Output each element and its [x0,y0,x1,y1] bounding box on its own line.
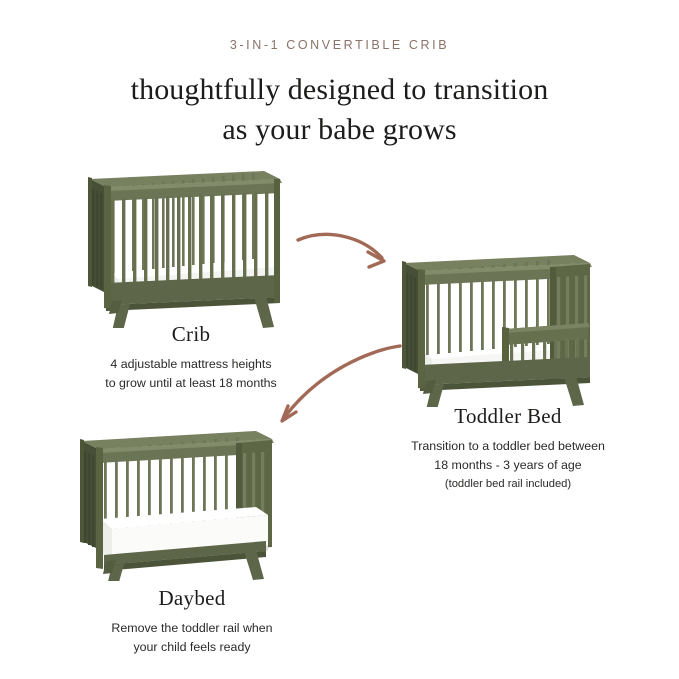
daybed-title: Daybed [48,586,336,611]
arrow-toddler-to-daybed [258,338,408,435]
daybed-caption: Daybed Remove the toddler rail when your… [48,586,336,656]
toddler-desc-line-1: Transition to a toddler bed between [372,437,644,456]
toddler-bed-caption: Toddler Bed Transition to a toddler bed … [372,404,644,493]
headline-line-1: thoughtfully designed to transition [131,73,549,106]
daybed-illustration [68,423,286,581]
headline-line-2: as your babe grows [0,110,679,150]
toddler-desc-line-3: (toddler bed rail included) [372,476,644,493]
crib-illustration [78,163,293,328]
arrow-crib-to-toddler [292,222,402,287]
toddler-bed-title: Toddler Bed [372,404,644,429]
infographic-page: 3-IN-1 CONVERTIBLE CRIB thoughtfully des… [0,0,679,679]
page-title: thoughtfully designed to transition as y… [0,70,679,149]
daybed-desc-line-2: your child feels ready [48,638,336,657]
daybed-description: Remove the toddler rail when your child … [48,619,336,656]
toddler-desc-line-2: 18 months - 3 years of age [372,456,644,475]
toddler-bed-illustration [392,247,604,407]
eyebrow-label: 3-IN-1 CONVERTIBLE CRIB [0,38,679,52]
toddler-bed-description: Transition to a toddler bed between 18 m… [372,437,644,493]
daybed-desc-line-1: Remove the toddler rail when [48,619,336,638]
